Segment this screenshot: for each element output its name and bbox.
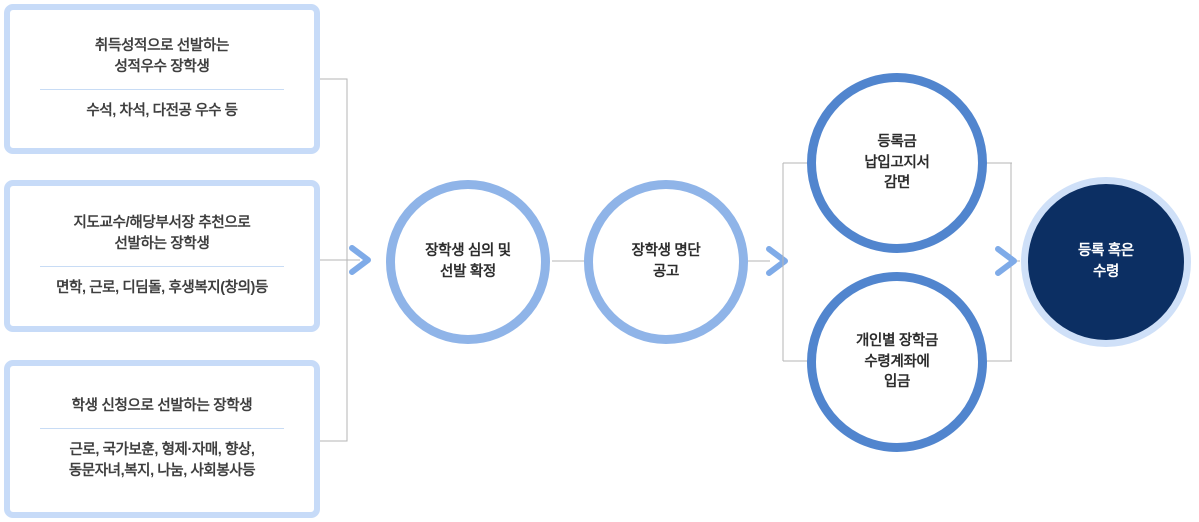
step-circle-label: 개인별 장학금 수령계좌에 입금 [856, 331, 938, 393]
scholarship-process-diagram: 취득성적으로 선발하는 성적우수 장학생 수석, 차석, 다전공 우수 등 지도… [0, 0, 1199, 522]
criteria-box-title: 취득성적으로 선발하는 성적우수 장학생 [95, 36, 229, 78]
criteria-box-title: 지도교수/해당부서장 추천으로 선발하는 장학생 [74, 213, 251, 255]
step-circle-label: 등록 혹은 수령 [1078, 241, 1134, 282]
criteria-box-detail: 수석, 차석, 다전공 우수 등 [86, 101, 237, 122]
step-circle-label: 등록금 납입고지서 감면 [864, 132, 929, 194]
step-circle-review: 장학생 심의 및 선발 확정 [386, 180, 550, 344]
criteria-box-recommendation: 지도교수/해당부서장 추천으로 선발하는 장학생 면학, 근로, 디딤돌, 후생… [4, 180, 320, 332]
criteria-box-application: 학생 신청으로 선발하는 장학생 근로, 국가보훈, 형제·자매, 향상, 동문… [4, 360, 320, 518]
criteria-box-divider [40, 89, 284, 90]
arrow-right-icon [352, 248, 368, 272]
arrow-right-icon [769, 249, 785, 273]
criteria-box-detail: 근로, 국가보훈, 형제·자매, 향상, 동문자녀,복지, 나눔, 사회봉사등 [69, 440, 255, 482]
criteria-box-divider [40, 428, 284, 429]
step-circle-tuition-reduction: 등록금 납입고지서 감면 [807, 73, 987, 253]
arrow-right-icon [998, 249, 1014, 273]
criteria-box-divider [40, 266, 284, 267]
step-circle-label: 장학생 명단 공고 [632, 241, 701, 282]
step-circle-account-deposit: 개인별 장학금 수령계좌에 입금 [807, 272, 987, 452]
criteria-box-detail: 면학, 근로, 디딤돌, 후생복지(창의)등 [56, 278, 268, 299]
criteria-box-title: 학생 신청으로 선발하는 장학생 [72, 396, 253, 417]
criteria-box-grades: 취득성적으로 선발하는 성적우수 장학생 수석, 차석, 다전공 우수 등 [4, 4, 320, 154]
step-circle-notice: 장학생 명단 공고 [584, 180, 748, 344]
step-circle-label: 장학생 심의 및 선발 확정 [425, 241, 511, 282]
step-circle-final-outcome: 등록 혹은 수령 [1021, 177, 1191, 347]
